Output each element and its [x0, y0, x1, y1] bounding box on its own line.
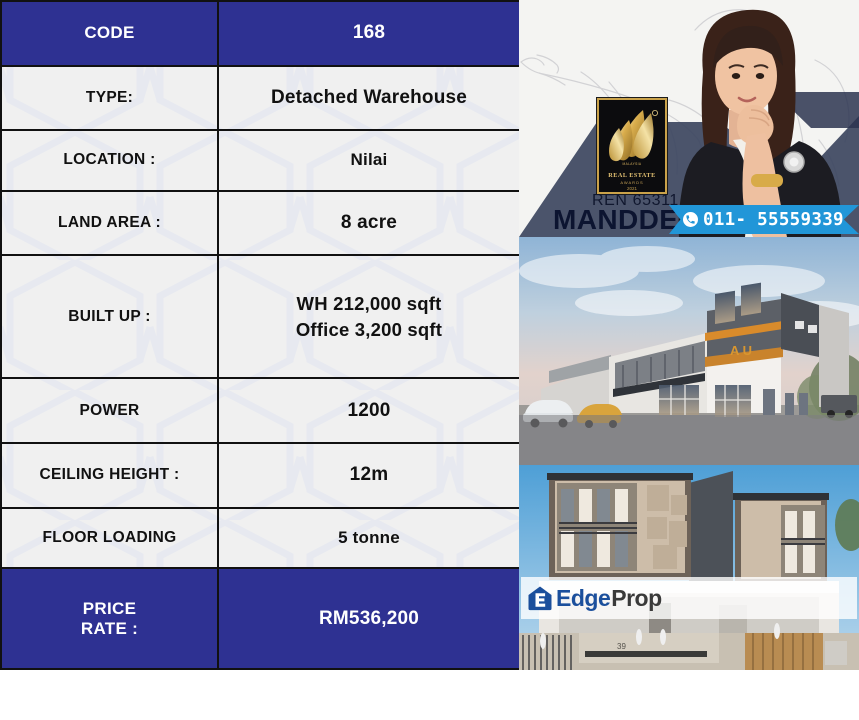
spec-label-line2: RATE : [8, 619, 211, 639]
spec-label-line1: PRICE [8, 599, 211, 619]
spec-label: TYPE: [86, 89, 133, 106]
property-spec-table: CODE 168 TYPE: Detached Warehouse [0, 0, 519, 670]
phone-icon [683, 212, 698, 227]
spec-label: LOCATION : [63, 151, 155, 168]
table-row-code: CODE 168 [1, 1, 519, 66]
spec-label: CODE [84, 23, 134, 42]
spec-value-line1: WH 212,000 sqft [225, 291, 513, 317]
gold-flame-emblem-icon [599, 100, 667, 162]
row-value-cell: Detached Warehouse [218, 66, 519, 131]
plaque-eyebrow: MALAYSIA [599, 162, 665, 166]
spec-value-line2: Office 3,200 sqft [225, 317, 513, 343]
table-row-floor-loading: FLOOR LOADING 5 tonne [1, 508, 519, 569]
spec-value: 12m [350, 464, 389, 485]
spec-value: Detached Warehouse [271, 87, 467, 108]
row-label-cell: CEILING HEIGHT : [1, 443, 218, 508]
edgeprop-watermark: Edge Prop [521, 577, 857, 619]
plaque-title: REAL ESTATE [599, 172, 665, 179]
listing-card: CODE 168 TYPE: Detached Warehouse [0, 0, 859, 720]
real-estate-award-plaque: MALAYSIA REAL ESTATE AWARDS 2021 [597, 98, 667, 194]
row-label-cell: POWER [1, 378, 218, 443]
building-sign-text: A U [730, 343, 752, 358]
media-column: MALAYSIA REAL ESTATE AWARDS 2021 REN 653… [519, 0, 859, 670]
agent-phone-ribbon[interactable]: 011- 55559339 [669, 205, 859, 234]
spec-value-price: RM536,200 [319, 608, 419, 629]
row-label-cell: LOCATION : [1, 130, 218, 191]
agent-portrait [651, 2, 841, 237]
row-value-cell: WH 212,000 sqft Office 3,200 sqft [218, 255, 519, 378]
spec-label: CEILING HEIGHT : [40, 466, 180, 483]
row-value-cell: RM536,200 [218, 568, 519, 669]
spec-value: 1200 [347, 400, 390, 421]
spec-label: LAND AREA : [58, 214, 161, 231]
row-label-cell: PRICE RATE : [1, 568, 218, 669]
spec-value: 168 [353, 22, 385, 43]
table-row-power: POWER 1200 [1, 378, 519, 443]
spec-table-panel: CODE 168 TYPE: Detached Warehouse [0, 0, 519, 670]
row-value-cell: 12m [218, 443, 519, 508]
row-value-cell: 8 acre [218, 191, 519, 256]
agent-banner: MALAYSIA REAL ESTATE AWARDS 2021 REN 653… [519, 0, 859, 237]
row-label-cell: TYPE: [1, 66, 218, 131]
spec-value: 8 acre [341, 212, 397, 233]
house-e-icon [527, 585, 553, 611]
edgeprop-prop-text: Prop [611, 585, 661, 612]
table-row-type: TYPE: Detached Warehouse [1, 66, 519, 131]
row-value-cell: 1200 [218, 378, 519, 443]
shop-office-render-photo[interactable]: 39 [519, 465, 859, 670]
row-label-cell: BUILT UP : [1, 255, 218, 378]
spec-label: FLOOR LOADING [43, 529, 177, 546]
spec-value: Nilai [351, 150, 388, 169]
table-row-location: LOCATION : Nilai [1, 130, 519, 191]
house-number-text: 39 [617, 642, 626, 651]
table-row-price-rate: PRICE RATE : RM536,200 [1, 568, 519, 669]
bottom-whitespace [0, 670, 859, 720]
edgeprop-edge-text: Edge [556, 585, 610, 612]
row-value-cell: 5 tonne [218, 508, 519, 569]
agent-phone-number: 011- 55559339 [703, 210, 844, 230]
spec-label: BUILT UP : [68, 308, 151, 325]
plaque-year: 2021 [599, 186, 665, 191]
plaque-subtitle: AWARDS [599, 180, 665, 185]
table-row-ceiling-height: CEILING HEIGHT : 12m [1, 443, 519, 508]
spec-label: POWER [79, 402, 139, 419]
spec-value: 5 tonne [338, 528, 400, 547]
table-row-land-area: LAND AREA : 8 acre [1, 191, 519, 256]
row-value-cell: 168 [218, 1, 519, 66]
row-label-cell: FLOOR LOADING [1, 508, 218, 569]
row-value-cell: Nilai [218, 130, 519, 191]
table-row-built-up: BUILT UP : WH 212,000 sqft Office 3,200 … [1, 255, 519, 378]
row-label-cell: LAND AREA : [1, 191, 218, 256]
warehouse-office-render-photo[interactable]: A U [519, 237, 859, 465]
row-label-cell: CODE [1, 1, 218, 66]
